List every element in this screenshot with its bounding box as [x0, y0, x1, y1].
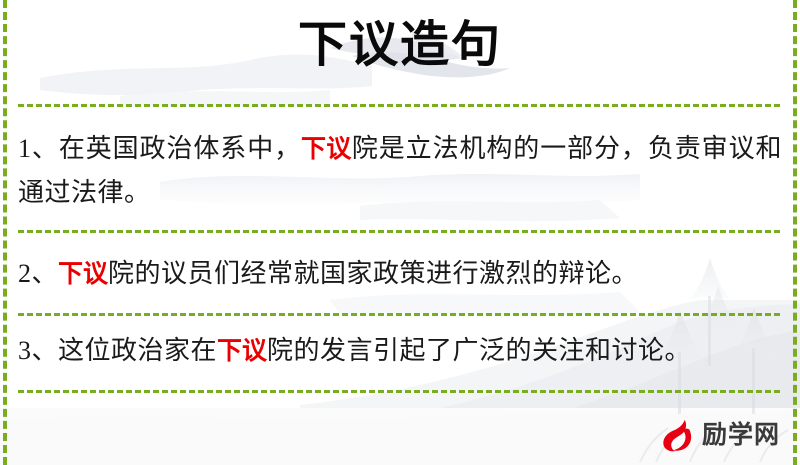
sentence-item-1: 1、在英国政治体系中，下议院是立法机构的一部分，负责审议和通过法律。: [18, 127, 782, 215]
logo-text: 励学网: [702, 421, 780, 449]
flame-swoosh-icon: [660, 417, 696, 453]
frame-border-right: [793, 0, 797, 465]
card-content: 下议造句 1、在英国政治体系中，下议院是立法机构的一部分，负责审议和通过法律。 …: [0, 0, 800, 465]
sentence-1-keyword: 下议: [301, 134, 352, 163]
title-area: 下议造句: [0, 14, 800, 76]
page-title: 下议造句: [298, 14, 502, 76]
sentence-3-before: 这位政治家在: [58, 336, 217, 365]
divider-2: [18, 230, 780, 233]
sentence-item-2: 2、下议院的议员们经常就国家政策进行激烈的辩论。: [18, 252, 782, 296]
sentence-2-keyword: 下议: [58, 259, 108, 288]
sentence-item-3: 3、这位政治家在下议院的发言引起了广泛的关注和讨论。: [18, 329, 782, 373]
site-logo[interactable]: 励学网: [660, 417, 780, 453]
sentence-3-after: 院的发言引起了广泛的关注和讨论。: [267, 336, 691, 365]
divider-3: [18, 313, 780, 316]
sentence-2-index: 2、: [18, 259, 58, 288]
sentence-1-before: 在英国政治体系中，: [59, 134, 301, 163]
sentence-3-keyword: 下议: [217, 336, 267, 365]
frame-border-left: [3, 0, 7, 465]
divider-4: [18, 390, 780, 393]
sentence-2-after: 院的议员们经常就国家政策进行激烈的辩论。: [108, 259, 638, 288]
sentence-card-page: 下议造句 1、在英国政治体系中，下议院是立法机构的一部分，负责审议和通过法律。 …: [0, 0, 800, 465]
sentence-3-index: 3、: [18, 336, 58, 365]
divider-1: [18, 104, 780, 107]
sentence-1-index: 1、: [18, 134, 59, 163]
